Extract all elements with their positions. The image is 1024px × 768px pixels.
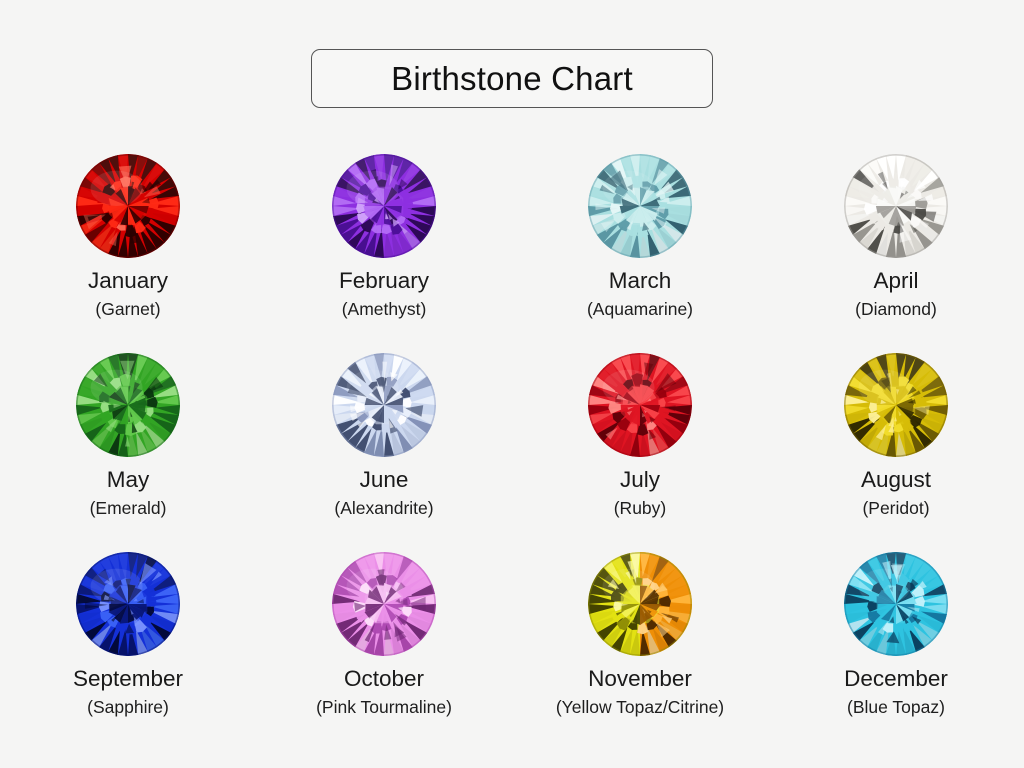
stone-label: (Peridot) [862,499,929,517]
round-brilliant-gem-icon [75,352,181,458]
stone-label: (Diamond) [855,300,937,318]
month-label: August [861,468,931,492]
birthstone-cell-april[interactable]: April(Diamond) [768,140,1024,339]
stone-label: (Aquamarine) [587,300,693,318]
stone-label: (Yellow Topaz/Citrine) [556,698,724,716]
round-brilliant-gem-icon [587,153,693,259]
round-brilliant-gem-icon [75,551,181,657]
birthstone-cell-january[interactable]: January(Garnet) [0,140,256,339]
stone-label: (Sapphire) [87,698,169,716]
birthstone-cell-july[interactable]: July(Ruby) [512,339,768,538]
round-brilliant-gem-icon [331,551,437,657]
birthstone-cell-march[interactable]: March(Aquamarine) [512,140,768,339]
month-label: September [73,667,183,691]
month-label: July [620,468,660,492]
stone-label: (Pink Tourmaline) [316,698,452,716]
birthstone-cell-december[interactable]: December(Blue Topaz) [768,538,1024,737]
stone-label: (Emerald) [90,499,167,517]
month-label: April [873,269,918,293]
stone-label: (Alexandrite) [334,499,433,517]
stone-label: (Garnet) [95,300,160,318]
month-label: October [344,667,424,691]
birthstone-cell-october[interactable]: October(Pink Tourmaline) [256,538,512,737]
round-brilliant-gem-icon [843,153,949,259]
birthstone-cell-february[interactable]: February(Amethyst) [256,140,512,339]
month-label: January [88,269,168,293]
month-label: November [588,667,692,691]
birthstone-cell-june[interactable]: June(Alexandrite) [256,339,512,538]
month-label: March [609,269,672,293]
birthstone-cell-may[interactable]: May(Emerald) [0,339,256,538]
round-brilliant-gem-icon [331,153,437,259]
page-title: Birthstone Chart [391,62,633,95]
birthstone-grid: January(Garnet)February(Amethyst)March(A… [0,140,1024,737]
stone-label: (Blue Topaz) [847,698,945,716]
month-label: December [844,667,948,691]
stone-label: (Ruby) [614,499,667,517]
round-brilliant-gem-icon [75,153,181,259]
month-label: June [360,468,409,492]
birthstone-cell-november[interactable]: November(Yellow Topaz/Citrine) [512,538,768,737]
stone-label: (Amethyst) [342,300,427,318]
month-label: May [107,468,150,492]
birthstone-cell-september[interactable]: September(Sapphire) [0,538,256,737]
month-label: February [339,269,429,293]
round-brilliant-gem-icon [587,352,693,458]
birthstone-cell-august[interactable]: August(Peridot) [768,339,1024,538]
round-brilliant-gem-icon [843,352,949,458]
page-title-box: Birthstone Chart [311,49,713,108]
round-brilliant-gem-icon [843,551,949,657]
round-brilliant-gem-split-icon [587,551,693,657]
round-brilliant-gem-icon [331,352,437,458]
